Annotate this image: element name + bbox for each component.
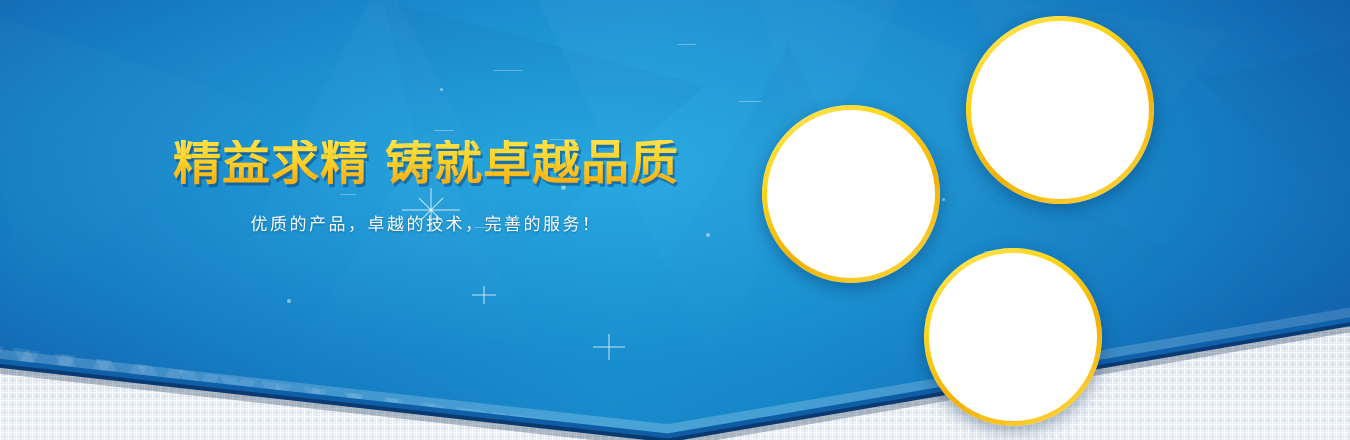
- product-photo-thermocouple-probes: [971, 21, 1149, 199]
- product-photo-differential-pressure-transmitter: [929, 253, 1097, 421]
- config-button: [970, 332, 977, 339]
- flange-bolt-hole: [1067, 309, 1077, 319]
- page-title: 精益求精铸就卓越品质: [166, 140, 686, 188]
- transmitter-lcd-display: [962, 290, 1006, 330]
- flowmeter-flange-right: [895, 233, 911, 278]
- headline-part-1: 精益求精: [173, 137, 369, 190]
- zero-span-button: [986, 332, 993, 339]
- flowmeter-converter-head: [815, 125, 887, 197]
- probe-tip: [1085, 175, 1093, 186]
- flowmeter-riser: [835, 221, 867, 243]
- decor-dot: [706, 233, 710, 237]
- decor-dash: [678, 44, 696, 45]
- keypad-buttons: [831, 180, 871, 186]
- flow-direction-arrow-icon: [829, 250, 873, 256]
- product-photo-electromagnetic-flowmeter: [767, 110, 935, 278]
- transmitter-housing: [953, 280, 1021, 344]
- product-circle-electromagnetic-flowmeter[interactable]: [762, 105, 940, 283]
- sheath-tip: [1118, 162, 1129, 170]
- probe-process-flange: [1072, 83, 1106, 95]
- facet-triangle: [1200, 26, 1350, 290]
- probe-head-handle: [1091, 45, 1113, 61]
- sheath-body: [1118, 110, 1129, 163]
- decor-dash: [739, 101, 761, 102]
- probe-process-flange: [1014, 111, 1040, 122]
- decor-dot: [942, 198, 945, 201]
- headline-part-2: 铸就卓越品质: [385, 137, 679, 190]
- promotional-banner: 精益求精铸就卓越品质 优质的产品，卓越的技术，完善的服务！: [0, 0, 1350, 440]
- lcd-display: [829, 145, 873, 167]
- decor-dash: [494, 70, 522, 71]
- manifold-bolt: [1012, 348, 1025, 361]
- manifold-bolt: [953, 377, 966, 390]
- probe-stem: [1085, 63, 1093, 177]
- manifold-bolt: [953, 348, 966, 361]
- pressure-manifold: [947, 342, 1031, 396]
- flow-direction-label: [820, 244, 882, 261]
- banner-copy: 精益求精铸就卓越品质 优质的产品，卓越的技术，完善的服务！: [166, 140, 686, 235]
- sensor-element-samples: [1042, 122, 1085, 172]
- banner-subtitle: 优质的产品，卓越的技术，完善的服务！: [166, 210, 686, 235]
- decor-dash: [434, 130, 454, 131]
- thermocouple-sheath-short: [1117, 110, 1131, 171]
- product-circle-differential-pressure-transmitter[interactable]: [924, 248, 1102, 426]
- flowmeter-flange-left: [791, 233, 807, 278]
- thermocouple-probe-angled: [1014, 71, 1040, 181]
- product-circle-thermocouple-probes[interactable]: [966, 16, 1154, 204]
- manifold-bolt: [1012, 377, 1025, 390]
